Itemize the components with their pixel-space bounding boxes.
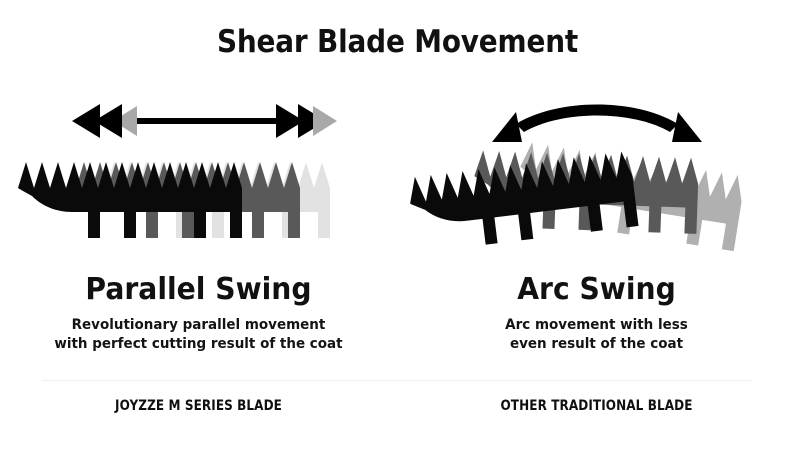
swing-subtitle-arc-line2: even result of the coat: [412, 335, 781, 354]
page-title: Shear Blade Movement: [40, 24, 756, 60]
curved-arc-double-headed-arrow-icon: [398, 90, 795, 152]
swing-subtitle-arc-line1: Arc movement with less: [412, 316, 781, 335]
parallel-blade-zone: [0, 146, 397, 266]
double-headed-straight-arrow-icon: [0, 90, 397, 152]
arc-arrow-zone: [398, 90, 795, 152]
footer-caption-joyzze: JOYZZE M SERIES BLADE: [28, 398, 369, 414]
swing-heading-arc: Arc Swing: [410, 272, 783, 307]
swing-subtitle-parallel-line1: Revolutionary parallel movement: [14, 316, 383, 335]
section-divider: [42, 380, 752, 381]
swing-subtitle-parallel-line2: with perfect cutting result of the coat: [14, 335, 383, 354]
swing-subtitle-arc: Arc movement with less even result of th…: [412, 316, 781, 354]
panel-arc-swing: Arc Swing Arc movement with less even re…: [398, 90, 795, 365]
infographic-canvas: Shear Blade Movement: [0, 0, 795, 460]
swing-subtitle-parallel: Revolutionary parallel movement with per…: [14, 316, 383, 354]
blade-arc-rotated-stack-icon: [398, 146, 795, 266]
swing-heading-parallel: Parallel Swing: [12, 272, 385, 307]
footer-caption-traditional: OTHER TRADITIONAL BLADE: [426, 398, 767, 414]
panel-parallel-swing: Parallel Swing Revolutionary parallel mo…: [0, 90, 397, 365]
blade-parallel-offset-stack-icon: [0, 146, 397, 266]
arc-blade-zone: [398, 146, 795, 266]
parallel-arrow-zone: [0, 90, 397, 152]
